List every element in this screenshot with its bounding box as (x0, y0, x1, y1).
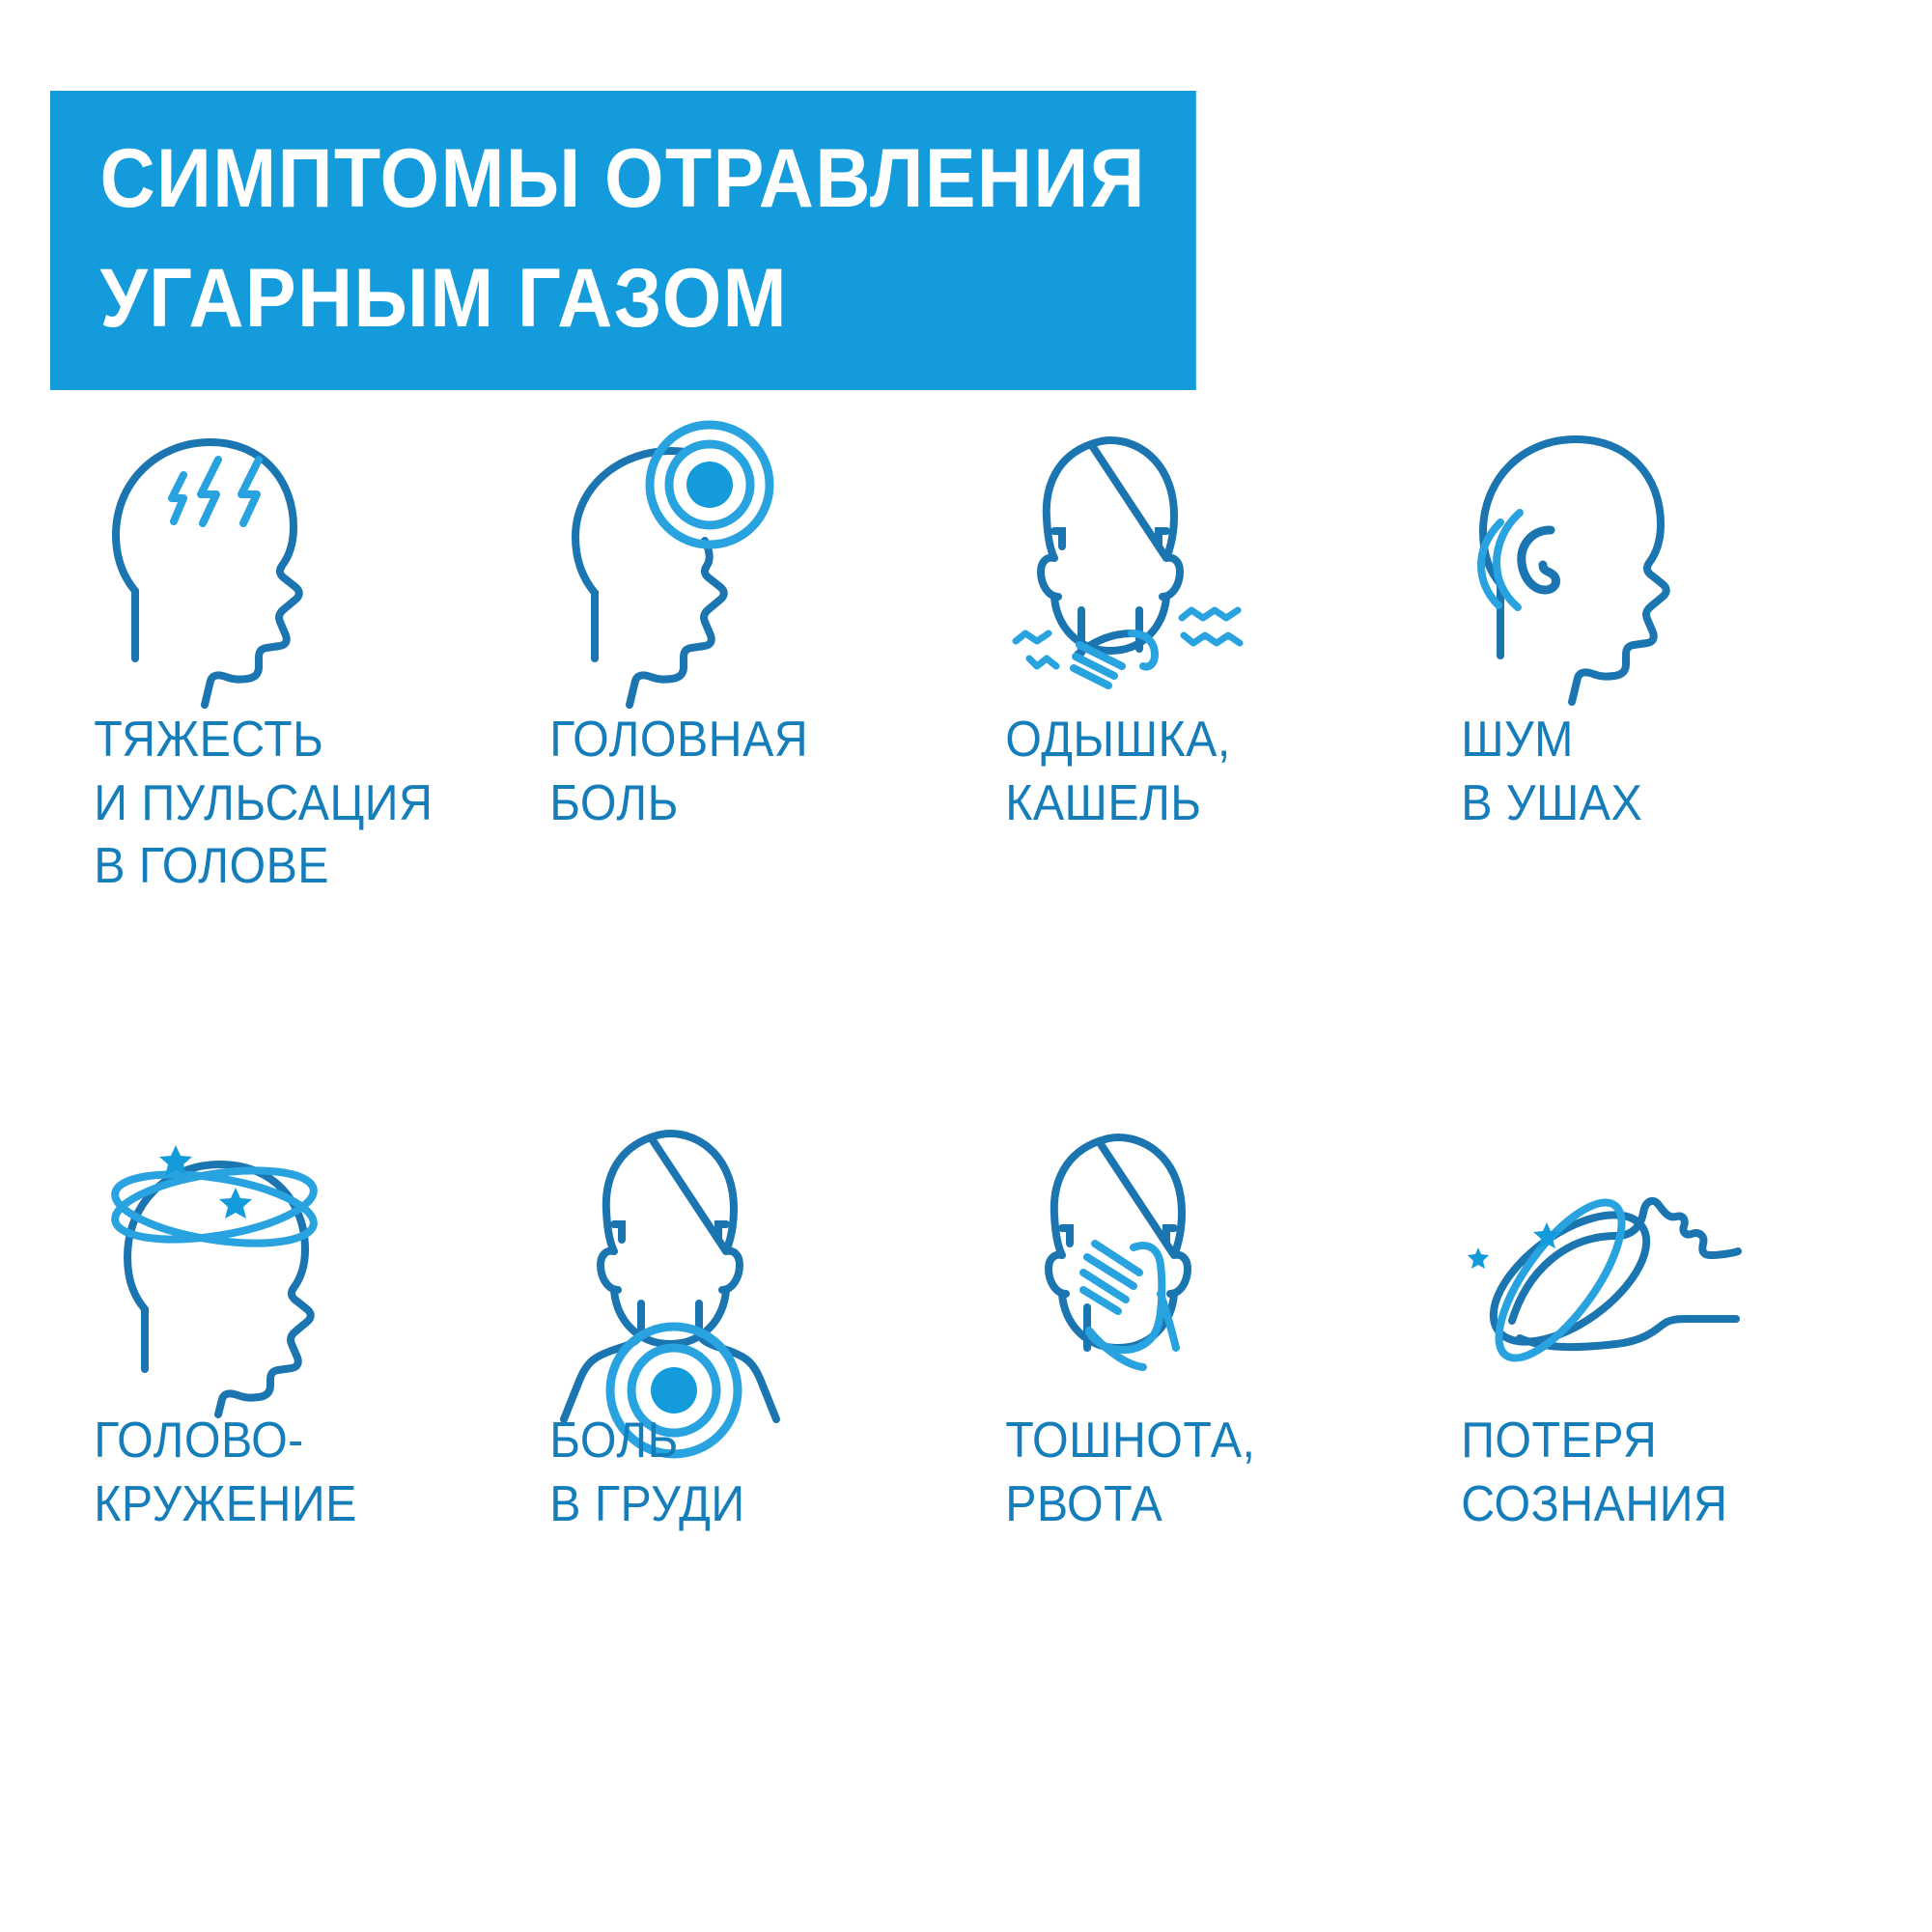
symptom-card-chest-pain: БОЛЬ В ГРУДИ (514, 1130, 969, 1536)
symptom-label: ГОЛОВО- КРУЖЕНИЕ (58, 1410, 357, 1536)
symptom-label: ОДЫШКА, КАШЕЛЬ (969, 709, 1231, 835)
torso-chest-target-icon (514, 1130, 969, 1371)
title-line-1: СИМПТОМЫ ОТРАВЛЕНИЯ (50, 91, 1195, 241)
head-front-hand-mouth-icon (969, 1130, 1425, 1371)
symptom-card-tinnitus: ШУМ В УШАХ (1425, 425, 1881, 835)
head-front-hand-throat-icon (969, 425, 1425, 666)
symptom-card-shortness-of-breath: ОДЫШКА, КАШЕЛЬ (969, 425, 1425, 835)
symptom-label: ПОТЕРЯ СОЗНАНИЯ (1425, 1410, 1727, 1536)
symptoms-grid: ТЯЖЕСТЬ И ПУЛЬСАЦИЯ В ГОЛОВЕ ГОЛОВНАЯ БО… (58, 425, 1883, 1545)
head-profile-lightning-icon (58, 425, 514, 666)
symptoms-row-1: ТЯЖЕСТЬ И ПУЛЬСАЦИЯ В ГОЛОВЕ ГОЛОВНАЯ БО… (58, 425, 1883, 840)
head-profile-pain-target-icon (514, 425, 969, 666)
head-profile-ear-waves-icon (1425, 425, 1881, 666)
symptom-card-loss-of-consciousness: ПОТЕРЯ СОЗНАНИЯ (1425, 1130, 1881, 1536)
symptom-label: ГОЛОВНАЯ БОЛЬ (514, 709, 808, 835)
symptom-label: ТОШНОТА, РВОТА (969, 1410, 1255, 1536)
symptom-card-headache: ГОЛОВНАЯ БОЛЬ (514, 425, 969, 835)
head-lying-orbit-stars-icon (1425, 1130, 1881, 1371)
symptom-card-nausea-vomiting: ТОШНОТА, РВОТА (969, 1130, 1425, 1536)
symptom-label: ТЯЖЕСТЬ И ПУЛЬСАЦИЯ В ГОЛОВЕ (58, 709, 433, 899)
symptom-label: ШУМ В УШАХ (1425, 709, 1642, 835)
symptom-card-dizziness: ГОЛОВО- КРУЖЕНИЕ (58, 1130, 514, 1536)
symptom-card-heaviness-pulsation: ТЯЖЕСТЬ И ПУЛЬСАЦИЯ В ГОЛОВЕ (58, 425, 514, 899)
title-line-2: УГАРНЫМ ГАЗОМ (50, 241, 1195, 390)
symptom-label: БОЛЬ В ГРУДИ (514, 1410, 745, 1536)
infographic-poster: СИМПТОМЫ ОТРАВЛЕНИЯ УГАРНЫМ ГАЗОМ ТЯЖЕСТ… (0, 0, 1932, 1932)
poster-title: СИМПТОМЫ ОТРАВЛЕНИЯ УГАРНЫМ ГАЗОМ (50, 91, 1296, 390)
symptoms-row-2: ГОЛОВО- КРУЖЕНИЕ БОЛЬ В ГР (58, 1130, 1883, 1545)
head-profile-orbit-stars-icon (58, 1130, 514, 1371)
